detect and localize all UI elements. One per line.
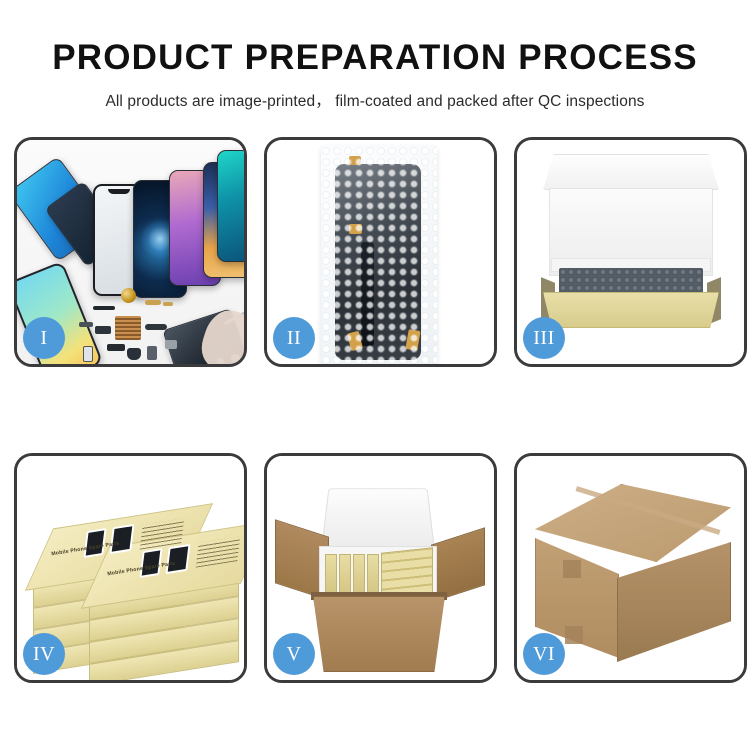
box-artwork-window <box>165 544 190 574</box>
part-button-icon <box>147 346 157 360</box>
part-sim-tray-icon <box>83 346 93 362</box>
box-back-flap-icon <box>543 154 719 190</box>
part-shield-icon <box>165 340 177 349</box>
carton-tab-icon <box>563 560 581 578</box>
step-badge-2: II <box>273 317 315 359</box>
carton-tab-icon <box>565 626 583 644</box>
process-step-grid: I II <box>14 137 748 687</box>
retail-box-upright <box>325 554 337 594</box>
part-module-icon <box>95 326 111 334</box>
step-badge-4: IV <box>23 633 65 675</box>
product-preparation-infographic: PRODUCT PREPARATION PROCESS All products… <box>0 0 750 750</box>
retail-box-upright <box>353 554 365 594</box>
carton-front-icon <box>313 596 445 672</box>
step-panel-3: III <box>514 137 747 367</box>
part-ribbon-icon <box>145 324 167 330</box>
speaker-module-icon <box>121 288 136 303</box>
step-panel-1: I <box>14 137 247 367</box>
page-title: PRODUCT PREPARATION PROCESS <box>0 40 750 77</box>
box-front-panel-icon <box>543 292 719 328</box>
carton-top-face-icon <box>535 484 731 562</box>
flex-cable-icon <box>361 242 374 346</box>
part-camera-icon <box>127 348 141 360</box>
header: PRODUCT PREPARATION PROCESS All products… <box>0 0 750 111</box>
retail-box-stack-inner <box>381 547 433 598</box>
gold-tab-icon <box>349 224 362 234</box>
step-panel-6: VI <box>514 453 747 683</box>
dark-bubble-wrap-icon <box>559 268 703 296</box>
step-badge-6: VI <box>523 633 565 675</box>
part-bracket-icon <box>107 344 125 351</box>
step-panel-2: II <box>264 137 497 367</box>
page-subtitle: All products are image-printed， film-coa… <box>0 89 750 111</box>
retail-box-upright <box>339 554 351 594</box>
part-gold-connector-icon <box>145 300 161 305</box>
step-panel-4: Mobile Phone Spare Parts Mobile Phone Sp… <box>14 453 247 683</box>
styrofoam-lid-icon <box>321 488 435 549</box>
bubble-wrap-bag-icon <box>321 146 437 364</box>
part-gold-clip-icon <box>163 302 173 306</box>
carton-right-face-icon <box>617 542 731 662</box>
step-panel-5: V <box>264 453 497 683</box>
gold-tab-icon <box>349 156 361 165</box>
retail-box-upright <box>367 554 379 594</box>
box-artwork-window <box>109 524 134 554</box>
part-strip-icon <box>93 306 115 310</box>
phone-teal-wallpaper-icon <box>217 150 244 262</box>
logic-board-chip-icon <box>115 316 141 340</box>
step-badge-1: I <box>23 317 65 359</box>
step-badge-3: III <box>523 317 565 359</box>
part-flex-cable-icon <box>79 322 93 327</box>
step-badge-5: V <box>273 633 315 675</box>
